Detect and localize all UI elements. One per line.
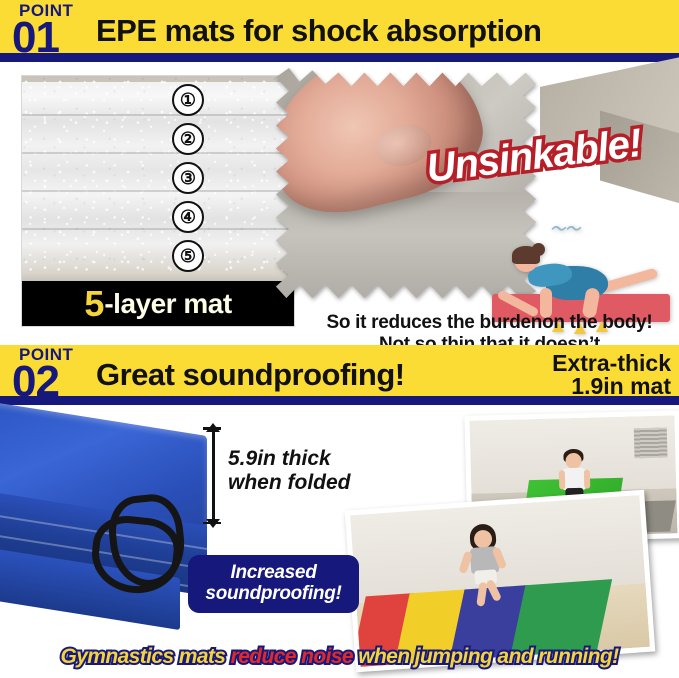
girl-figure bbox=[461, 523, 513, 612]
foam-caption-text: -layer mat bbox=[104, 290, 231, 318]
speech-bubble-text: Increased soundproofing! bbox=[205, 563, 341, 604]
bottom-caption-part-1: Gymnastics mats bbox=[60, 645, 230, 668]
bottom-caption-part-2: reduce noise bbox=[231, 645, 353, 668]
thickness-label-line-1: 5.9in thick bbox=[228, 447, 351, 471]
point-02-header: POINT 02 Great soundproofing! Extra-thic… bbox=[0, 345, 679, 405]
foam-caption-number: 5 bbox=[84, 286, 104, 322]
foam-layer-number-list: ① ② ③ ④ ⑤ bbox=[172, 84, 216, 279]
foam-cross-section-photo bbox=[22, 76, 294, 281]
point-02-aside-line-2: 1.9in mat bbox=[552, 375, 671, 398]
thickness-label: 5.9in thick when folded bbox=[228, 447, 351, 494]
layer-number-2: ② bbox=[172, 123, 204, 155]
section-01-body-line-1: So it reduces the burdenon the body! bbox=[300, 312, 679, 334]
boy-arm-right bbox=[584, 469, 590, 488]
bottom-caption: Gymnastics mats reduce noise when jumpin… bbox=[0, 645, 679, 669]
point-02-aside-line-1: Extra-thick bbox=[552, 352, 671, 375]
point-02-badge-number: 02 bbox=[6, 360, 94, 404]
boy-shirt bbox=[562, 467, 587, 490]
layer-number-4: ④ bbox=[172, 201, 204, 233]
speech-bubble-line-2: soundproofing! bbox=[205, 584, 341, 605]
section-02-body: 5.9in thick when folded bbox=[0, 405, 679, 678]
thickness-label-line-2: when folded bbox=[228, 471, 351, 495]
girl-leg-right bbox=[485, 579, 502, 602]
point-01-badge: POINT 01 bbox=[6, 2, 94, 60]
point-01-badge-number: 01 bbox=[6, 16, 94, 60]
infographic-page: POINT 01 EPE mats for shock absorption ①… bbox=[0, 0, 679, 678]
yoga-hair-bun bbox=[532, 243, 545, 256]
arrow-down-icon bbox=[206, 519, 220, 528]
point-02-badge: POINT 02 bbox=[6, 346, 94, 404]
thickness-dimension-arrow bbox=[205, 423, 221, 528]
arrow-up-icon bbox=[206, 423, 220, 432]
soundproofing-speech-bubble: Increased soundproofing! bbox=[188, 555, 359, 613]
foam-caption-banner: 5-layer mat bbox=[22, 281, 294, 326]
point-01-header: POINT 01 EPE mats for shock absorption bbox=[0, 0, 679, 62]
section-01-body: ① ② ③ ④ ⑤ 5-layer mat 〜〜 bbox=[0, 62, 679, 345]
speech-bubble-line-1: Increased bbox=[205, 563, 341, 584]
motion-lines-icon: 〜〜 bbox=[550, 218, 580, 239]
layer-number-3: ③ bbox=[172, 162, 204, 194]
point-01-title: EPE mats for shock absorption bbox=[94, 13, 679, 49]
layer-number-5: ⑤ bbox=[172, 240, 204, 272]
point-02-title: Great soundproofing! bbox=[94, 357, 552, 393]
air-vent-icon bbox=[634, 427, 668, 459]
yoga-pose-illustration: 〜〜 bbox=[488, 214, 674, 326]
boy-arm-left bbox=[559, 470, 565, 489]
boy-head bbox=[565, 452, 581, 468]
foam-layer-photo-card: ① ② ③ ④ ⑤ 5-layer mat bbox=[22, 76, 294, 326]
dimension-line bbox=[212, 429, 215, 522]
bottom-caption-part-3: when jumping and running! bbox=[353, 645, 619, 668]
layer-number-1: ① bbox=[172, 84, 204, 116]
point-01-rule bbox=[0, 53, 679, 62]
point-02-aside: Extra-thick 1.9in mat bbox=[552, 352, 679, 399]
